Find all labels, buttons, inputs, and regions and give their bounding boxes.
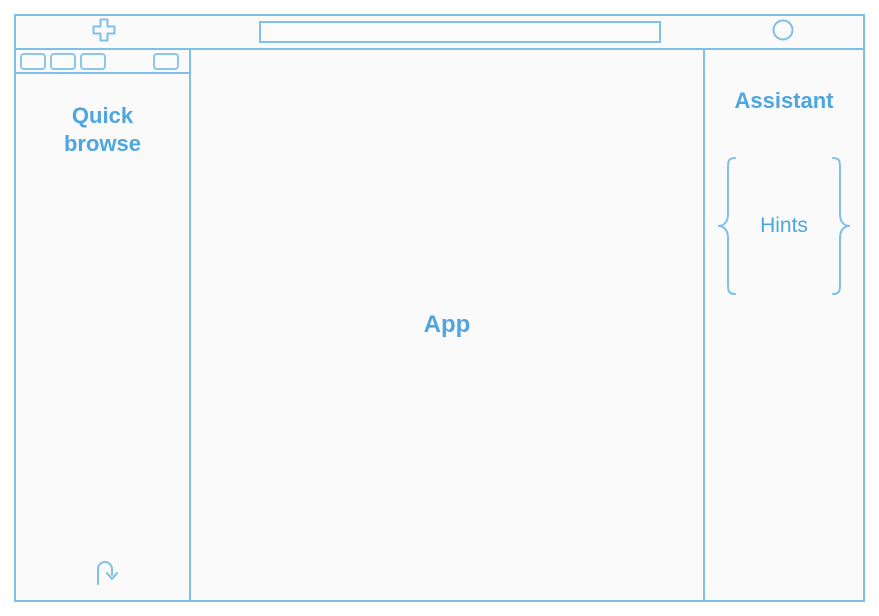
- sidebar-panel: Quick browse: [16, 50, 191, 600]
- hints-label: Hints: [760, 214, 808, 238]
- u-turn-arrow-icon[interactable]: [90, 555, 120, 592]
- sidebar-body: Quick browse: [16, 74, 189, 600]
- app-canvas-title: App: [424, 311, 471, 339]
- right-curly-brace-icon: [830, 156, 852, 296]
- top-bar-address-section: [191, 16, 703, 48]
- sidebar-tool-2[interactable]: [50, 53, 76, 70]
- top-bar: [16, 16, 863, 50]
- top-bar-left-section: [16, 16, 191, 48]
- app-canvas[interactable]: App: [191, 50, 703, 600]
- sidebar-tool-4[interactable]: [153, 53, 179, 70]
- sidebar-title: Quick browse: [38, 102, 168, 158]
- sidebar-toolbar-left-group: [20, 53, 106, 70]
- circle-avatar-icon[interactable]: [771, 18, 795, 47]
- content-columns: Quick browse App Assistant: [16, 50, 863, 600]
- wireframe-window: Quick browse App Assistant: [14, 14, 865, 602]
- sidebar-footer: [16, 555, 189, 592]
- plus-icon[interactable]: [90, 16, 118, 49]
- top-bar-right-section: [703, 16, 863, 48]
- address-input[interactable]: [259, 21, 661, 43]
- sidebar-tool-3[interactable]: [80, 53, 106, 70]
- sidebar-toolbar: [16, 50, 189, 74]
- assistant-panel: Assistant Hints: [703, 50, 863, 600]
- sidebar-tool-1[interactable]: [20, 53, 46, 70]
- hints-block: Hints: [716, 156, 852, 296]
- assistant-title: Assistant: [734, 88, 833, 114]
- left-curly-brace-icon: [716, 156, 738, 296]
